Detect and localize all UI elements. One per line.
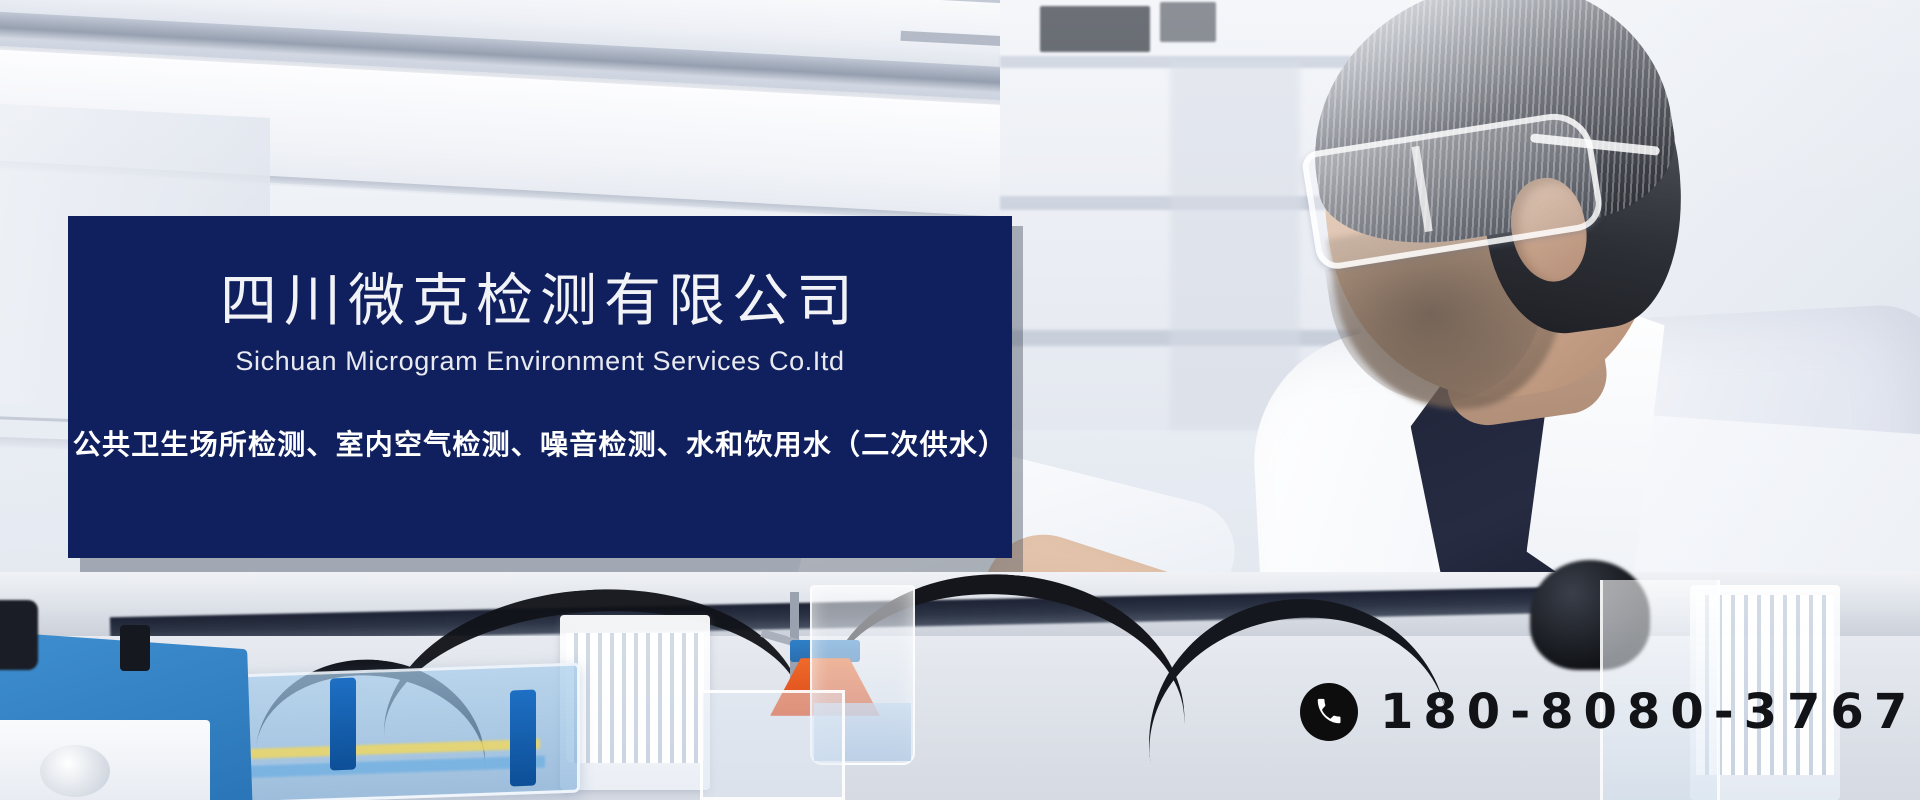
instrument-knob [40,745,110,797]
square-glass-vessel [700,690,845,800]
shelf-item-dark-one [1040,6,1150,52]
tray-clip-right [510,690,536,787]
shelf-item-dark-two [1160,2,1216,42]
tray-clip-left [330,678,356,771]
company-info-card: 四川微克检测有限公司 Sichuan Microgram Environment… [68,216,1012,558]
dark-instrument-mid [120,625,150,671]
company-name-english: Sichuan Microgram Environment Services C… [235,346,844,377]
company-name-chinese: 四川微克检测有限公司 [220,272,860,332]
test-tubes [566,633,704,763]
dark-instrument-left [0,600,38,670]
contact-phone-block[interactable]: 180-8080-3767 [1300,683,1917,741]
test-tube-rack-center [560,615,710,790]
promo-banner: 四川微克检测有限公司 Sichuan Microgram Environment… [0,0,1920,800]
services-list: 公共卫生场所检测、室内空气检测、噪音检测、水和饮用水（二次供水） [73,423,1007,463]
phone-handset-icon[interactable] [1300,683,1358,741]
phone-number-text[interactable]: 180-8080-3767 [1380,684,1917,740]
